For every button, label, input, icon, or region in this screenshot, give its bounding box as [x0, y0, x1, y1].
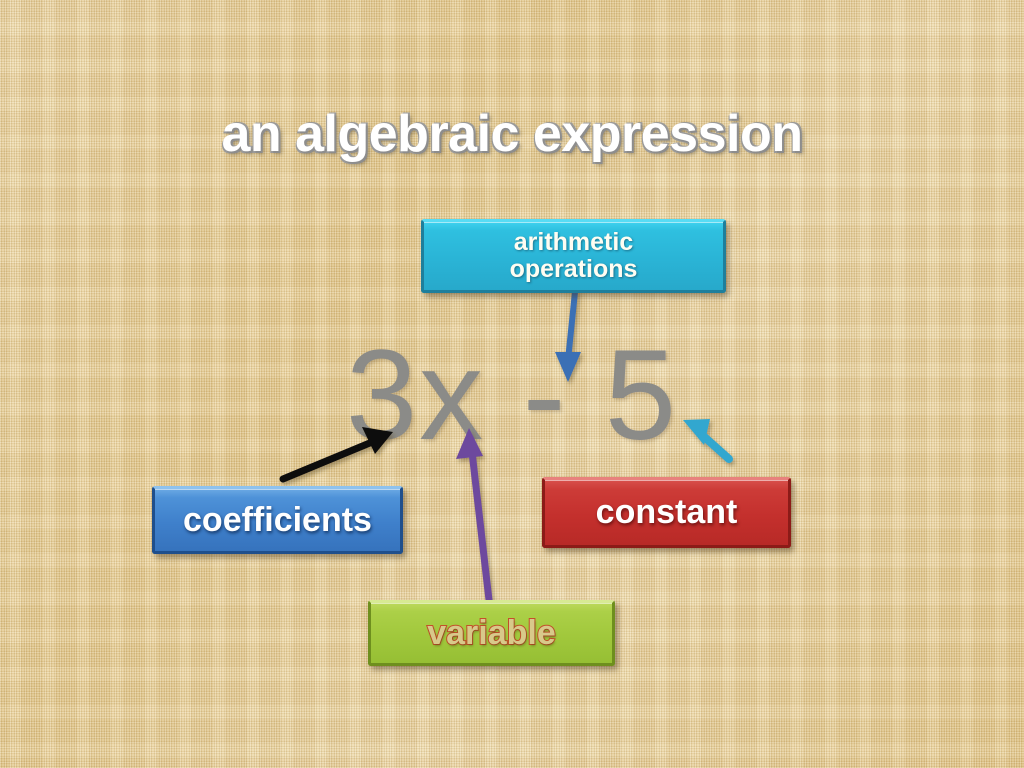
callout-constant[interactable]: constant	[542, 477, 791, 548]
callout-arithmetic-operations-label: arithmetic operations	[424, 229, 723, 283]
callout-arithmetic-operations[interactable]: arithmetic operations	[421, 219, 726, 293]
page-title: an algebraic expression	[0, 104, 1024, 164]
callout-arithmetic-line-1: arithmetic	[424, 229, 723, 256]
callout-coefficients[interactable]: coefficients	[152, 486, 403, 554]
callout-variable-label: variable	[371, 615, 612, 652]
slide-canvas: an algebraic expression 3x - 5	[0, 0, 1024, 768]
callout-coefficients-label: coefficients	[155, 502, 400, 539]
algebraic-expression: 3x - 5	[0, 322, 1024, 469]
callout-arithmetic-line-2: operations	[424, 256, 723, 283]
callout-variable[interactable]: variable	[368, 600, 615, 666]
callout-constant-label: constant	[545, 494, 788, 531]
